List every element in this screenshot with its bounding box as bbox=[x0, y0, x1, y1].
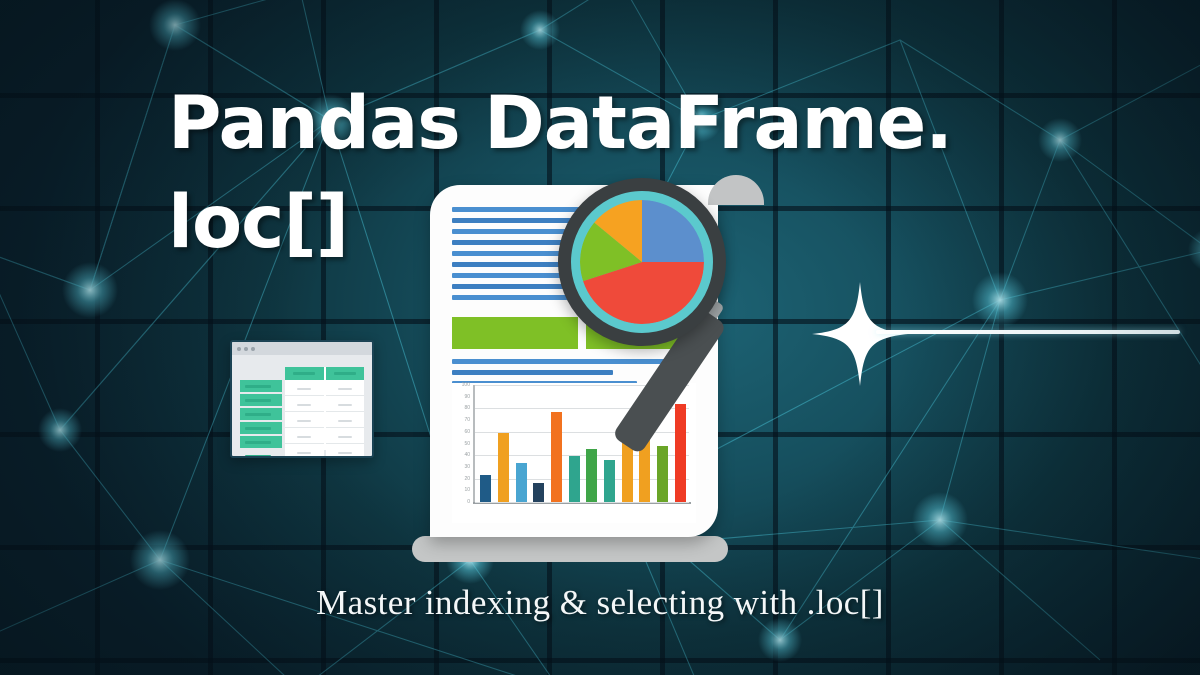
chart-bar bbox=[480, 475, 491, 502]
index-cell bbox=[240, 436, 282, 450]
table-window-widget bbox=[230, 340, 374, 458]
chart-y-tick-label: 90 bbox=[452, 395, 470, 400]
window-titlebar bbox=[232, 342, 372, 355]
chart-y-tick-label: 80 bbox=[452, 406, 470, 411]
document-base-shadow bbox=[412, 536, 728, 562]
table-cell bbox=[285, 430, 324, 444]
table-row bbox=[285, 430, 364, 444]
window-dot-icon bbox=[244, 347, 248, 351]
table-cell bbox=[285, 382, 324, 396]
table-row bbox=[285, 398, 364, 412]
page-title: Pandas DataFrame. loc[] bbox=[168, 74, 1068, 273]
accent-rule bbox=[876, 330, 1180, 334]
table-cell bbox=[285, 414, 324, 428]
table-row bbox=[285, 446, 364, 458]
table-cell bbox=[326, 446, 365, 458]
index-cell bbox=[240, 408, 282, 422]
chart-y-tick-label: 30 bbox=[452, 465, 470, 470]
chart-y-tick-label: 10 bbox=[452, 488, 470, 493]
table-body bbox=[232, 355, 372, 456]
table-cell bbox=[326, 414, 365, 428]
table-cell bbox=[326, 430, 365, 444]
table-header-cell bbox=[285, 367, 324, 380]
page-subtitle: Master indexing & selecting with .loc[] bbox=[0, 583, 1200, 623]
chart-y-tick-label: 100 bbox=[452, 383, 470, 388]
window-dot-icon bbox=[237, 347, 241, 351]
index-cell bbox=[240, 394, 282, 408]
table-cell bbox=[326, 382, 365, 396]
table-cell bbox=[285, 446, 324, 458]
chart-bar bbox=[498, 433, 509, 502]
table-row bbox=[285, 414, 364, 428]
banner-canvas: 1009080706050403020100 Pandas DataFrame.… bbox=[0, 0, 1200, 675]
table-row bbox=[285, 382, 364, 396]
window-dot-icon bbox=[251, 347, 255, 351]
table-cell bbox=[285, 398, 324, 412]
index-cell bbox=[240, 380, 282, 394]
chart-y-tick-label: 20 bbox=[452, 477, 470, 482]
index-cell bbox=[240, 422, 282, 436]
index-cell bbox=[240, 450, 282, 458]
chart-y-tick-label: 70 bbox=[452, 418, 470, 423]
chart-bar bbox=[516, 463, 527, 502]
table-header-row bbox=[285, 367, 364, 380]
table-header-cell bbox=[326, 367, 365, 380]
chart-y-axis bbox=[473, 385, 475, 503]
table-cell bbox=[326, 398, 365, 412]
table-index-column bbox=[240, 380, 282, 450]
chart-y-tick-label: 40 bbox=[452, 453, 470, 458]
chart-y-tick-label: 50 bbox=[452, 442, 470, 447]
table-grid bbox=[285, 367, 364, 450]
chart-y-tick-label: 0 bbox=[452, 500, 470, 505]
chart-y-tick-label: 60 bbox=[452, 430, 470, 435]
